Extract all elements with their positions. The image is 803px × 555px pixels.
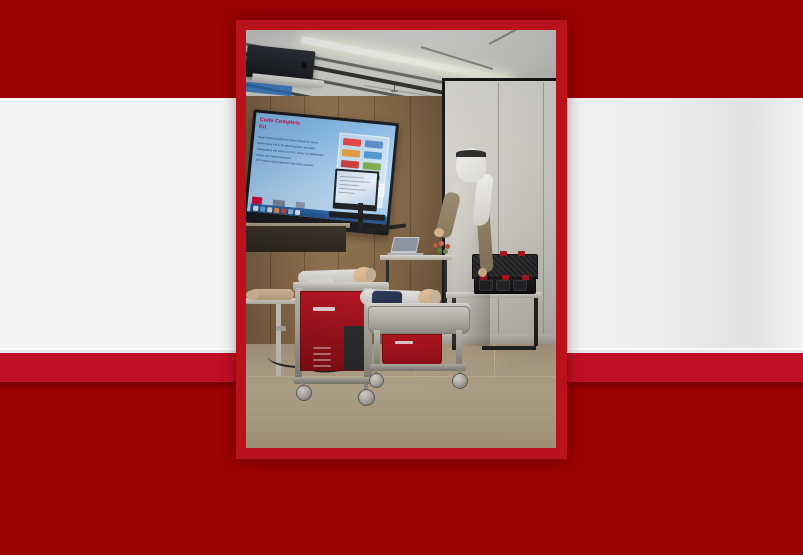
partition-header-rail [442, 78, 556, 81]
presenter-igal-band [456, 150, 486, 157]
laptop-screen [392, 238, 419, 251]
photo-frame: Code Complete Kit Rapid Training Solutio… [236, 20, 567, 459]
cart-front-post [456, 330, 462, 366]
left-table-clamp [276, 326, 286, 331]
manikin-rear-hair [366, 268, 376, 282]
simulation-cart-front[interactable] [368, 306, 472, 410]
cart-front-caster [452, 373, 468, 389]
cart-front-drawer[interactable] [382, 334, 442, 366]
case-latch-icon[interactable] [518, 251, 525, 256]
explorer-icon[interactable] [260, 206, 265, 211]
slide-bullet-list: Rapid Training Solution for Critical Res… [255, 137, 335, 174]
slide-canvas: Code Complete Kit Rapid Training Solutio… [0, 0, 803, 555]
presenter-laptop[interactable] [390, 237, 420, 254]
start-icon[interactable] [253, 205, 258, 210]
cart-brand-logo [313, 307, 335, 311]
case-foam-insert [513, 280, 527, 291]
credenza-cabinet [246, 226, 346, 252]
cart-label-marks [313, 347, 331, 369]
cart-rear-open-shelf [344, 326, 366, 370]
tray-icon[interactable] [295, 209, 300, 214]
manikin-head-left [246, 290, 259, 300]
equipment-table-leg [534, 298, 538, 346]
presenter-right-hand [478, 268, 487, 277]
articulating-arm-monitor[interactable] [333, 169, 380, 212]
app-icon[interactable] [274, 207, 279, 212]
wall-panel-seam [543, 82, 544, 334]
cart-front-post [374, 330, 380, 366]
cart-rear-caster [296, 385, 312, 401]
presenter-left-hand [434, 228, 444, 237]
browser-icon[interactable] [267, 207, 272, 212]
cart-front-caster [369, 373, 384, 388]
document-icon[interactable] [288, 209, 293, 214]
case-latch-icon[interactable] [500, 251, 507, 256]
sprinkler-head-icon [392, 85, 397, 93]
media-icon[interactable] [281, 208, 286, 213]
cart-brand-logo [395, 341, 413, 344]
cart-front-base [370, 364, 466, 371]
projector-lens-icon [300, 61, 309, 70]
slide-title-line-2: Kit [259, 125, 267, 132]
cart-rear-base [294, 377, 378, 384]
cart-front-tray [368, 306, 470, 334]
training-session-photo: Code Complete Kit Rapid Training Solutio… [246, 30, 556, 448]
monitor-screen [335, 171, 377, 206]
